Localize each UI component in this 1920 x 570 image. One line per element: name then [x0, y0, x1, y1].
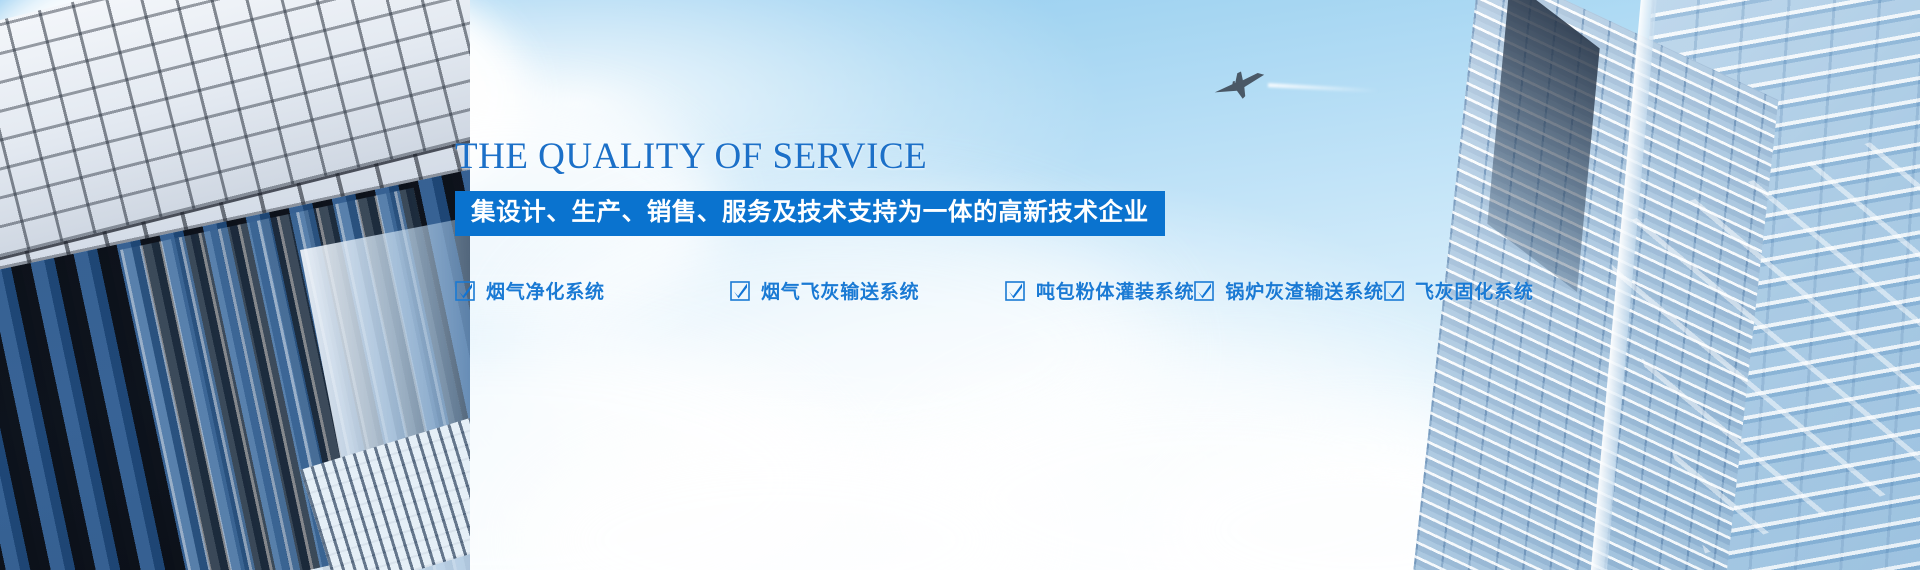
list-item[interactable]: 飞灰固化系统: [1384, 268, 1534, 313]
checked-checkbox-icon: [730, 281, 750, 301]
list-item[interactable]: 烟气飞灰输送系统: [730, 268, 1005, 313]
list-item[interactable]: 烟气净化系统: [455, 268, 730, 313]
banner-content: THE QUALITY OF SERVICE 集设计、生产、销售、服务及技术支持…: [455, 136, 1215, 313]
subtitle-bar: 集设计、生产、销售、服务及技术支持为一体的高新技术企业: [455, 191, 1165, 237]
list-item-label: 烟气飞灰输送系统: [761, 277, 919, 304]
list-item-label: 锅炉灰渣输送系统: [1225, 277, 1383, 304]
page-title: THE QUALITY OF SERVICE: [455, 136, 1215, 179]
feature-list: 烟气净化系统 烟气飞灰输送系统 吨包粉体灌装: [455, 268, 1215, 313]
checked-checkbox-icon: [1384, 281, 1404, 301]
list-item-label: 吨包粉体灌装系统: [1036, 277, 1194, 304]
left-building-image: [0, 0, 470, 570]
hero-banner: THE QUALITY OF SERVICE 集设计、生产、销售、服务及技术支持…: [0, 0, 1920, 570]
cloud-shape: [520, 430, 1040, 570]
list-item[interactable]: 锅炉灰渣输送系统: [1194, 268, 1383, 313]
list-item-label: 烟气净化系统: [486, 277, 605, 304]
list-item[interactable]: 吨包粉体灌装系统: [1005, 268, 1194, 313]
checked-checkbox-icon: [1005, 281, 1025, 301]
list-item-label: 飞灰固化系统: [1415, 277, 1534, 304]
airplane-icon: [1210, 68, 1270, 104]
checked-checkbox-icon: [1194, 281, 1214, 301]
checked-checkbox-icon: [455, 281, 475, 301]
